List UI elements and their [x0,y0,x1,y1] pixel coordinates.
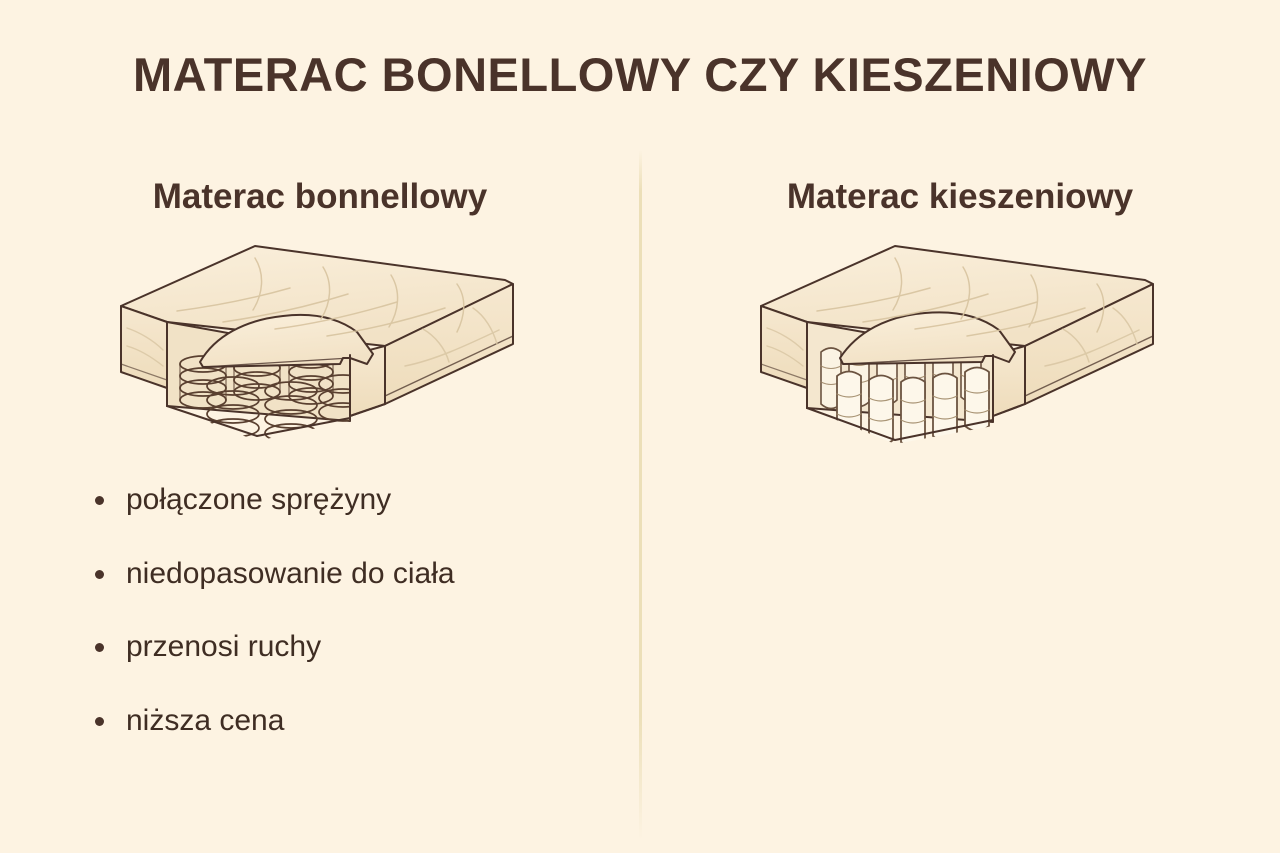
bullet-dot-icon [95,643,104,652]
column-heading-pocket: Materac kieszeniowy [640,177,1280,217]
pocket-mattress-cutaway-illustration [745,236,1175,461]
list-item-label: połączone sprężyny [126,483,391,516]
list-item: przenosi ruchy [90,627,590,667]
bullet-list-bonnell: połączone sprężyny niedopasowanie do cia… [90,480,590,774]
list-item-label: niższa cena [126,704,284,737]
list-item-label: niedopasowanie do ciała [126,557,455,590]
list-item: niższa cena [90,701,590,741]
infographic-page: MATERAC BONELLOWY CZY KIESZENIOWY Matera… [0,0,1280,853]
list-item-label: przenosi ruchy [126,630,321,663]
bullet-dot-icon [95,717,104,726]
bullet-dot-icon [95,496,104,505]
list-item: połączone sprężyny [90,480,590,520]
column-pocket: Materac kieszeniowy [640,0,1280,853]
column-bonnell: Materac bonnellowy [0,0,640,853]
bonnell-mattress-cutaway-illustration [105,236,535,461]
list-item: niedopasowanie do ciała [90,554,590,594]
column-heading-bonnell: Materac bonnellowy [0,177,640,217]
bullet-dot-icon [95,570,104,579]
